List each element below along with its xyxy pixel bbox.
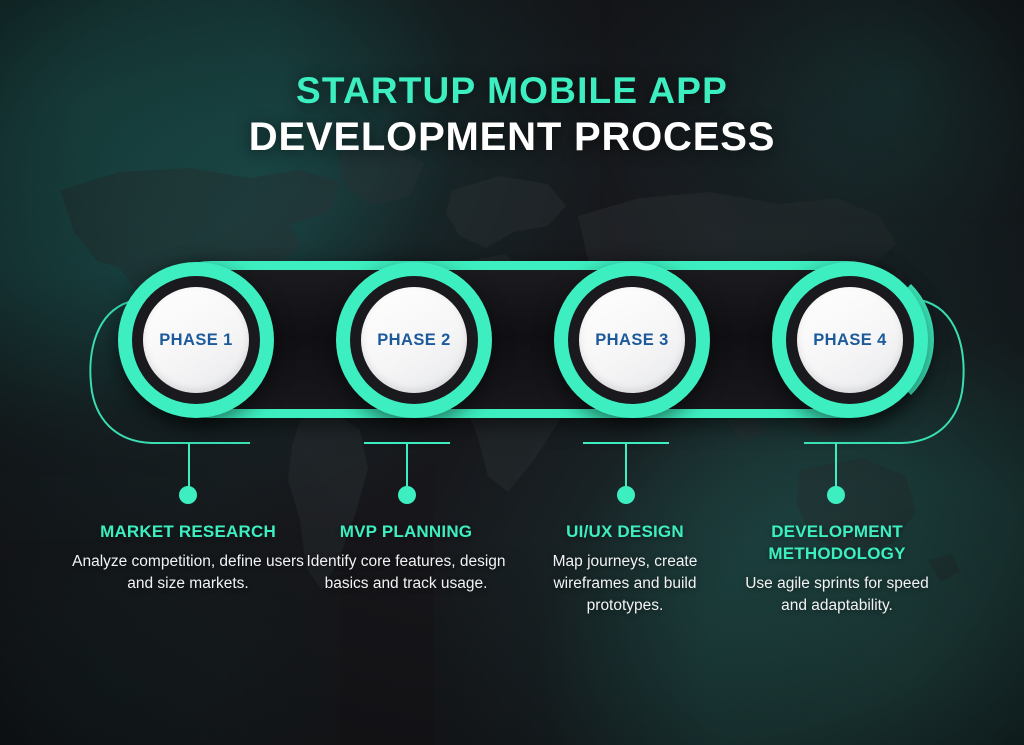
phase-circle-1[interactable]: PHASE 1 bbox=[118, 262, 274, 418]
phase-4-text-block: DEVELOPMENT METHODOLOGY Use agile sprint… bbox=[733, 521, 941, 617]
phase-circle-2-inner: PHASE 2 bbox=[361, 287, 467, 393]
phase-2-heading: MVP PLANNING bbox=[295, 521, 517, 543]
phase-4-heading: DEVELOPMENT METHODOLOGY bbox=[733, 521, 941, 565]
phase-4-description: Use agile sprints for speed and adaptabi… bbox=[733, 573, 941, 617]
phase-1-heading: MARKET RESEARCH bbox=[72, 521, 304, 543]
phase-3-heading: UI/UX DESIGN bbox=[516, 521, 734, 543]
phase-circle-4-inner: PHASE 4 bbox=[797, 287, 903, 393]
phase-circle-2[interactable]: PHASE 2 bbox=[336, 262, 492, 418]
phase-circle-1-inner: PHASE 1 bbox=[143, 287, 249, 393]
phase-3-badge-label: PHASE 3 bbox=[595, 331, 668, 350]
phase-1-badge-label: PHASE 1 bbox=[159, 331, 232, 350]
phase-circle-3-inner: PHASE 3 bbox=[579, 287, 685, 393]
title-line-1: STARTUP MOBILE APP bbox=[0, 70, 1024, 113]
title-line-2: DEVELOPMENT PROCESS bbox=[0, 113, 1024, 162]
phase-3-text-block: UI/UX DESIGN Map journeys, create wirefr… bbox=[516, 521, 734, 617]
phase-4-badge-label: PHASE 4 bbox=[813, 331, 886, 350]
infographic-canvas: STARTUP MOBILE APP DEVELOPMENT PROCESS P… bbox=[0, 0, 1024, 745]
phase-1-description: Analyze competition, define users and si… bbox=[72, 551, 304, 595]
phase-circle-3[interactable]: PHASE 3 bbox=[554, 262, 710, 418]
phase-circle-4[interactable]: PHASE 4 bbox=[772, 262, 928, 418]
page-title: STARTUP MOBILE APP DEVELOPMENT PROCESS bbox=[0, 70, 1024, 162]
phase-3-description: Map journeys, create wireframes and buil… bbox=[516, 551, 734, 617]
phase-2-text-block: MVP PLANNING Identify core features, des… bbox=[295, 521, 517, 595]
phase-1-text-block: MARKET RESEARCH Analyze competition, def… bbox=[72, 521, 304, 595]
phase-2-description: Identify core features, design basics an… bbox=[295, 551, 517, 595]
connector-4-dot bbox=[827, 486, 845, 504]
phase-2-badge-label: PHASE 2 bbox=[377, 331, 450, 350]
